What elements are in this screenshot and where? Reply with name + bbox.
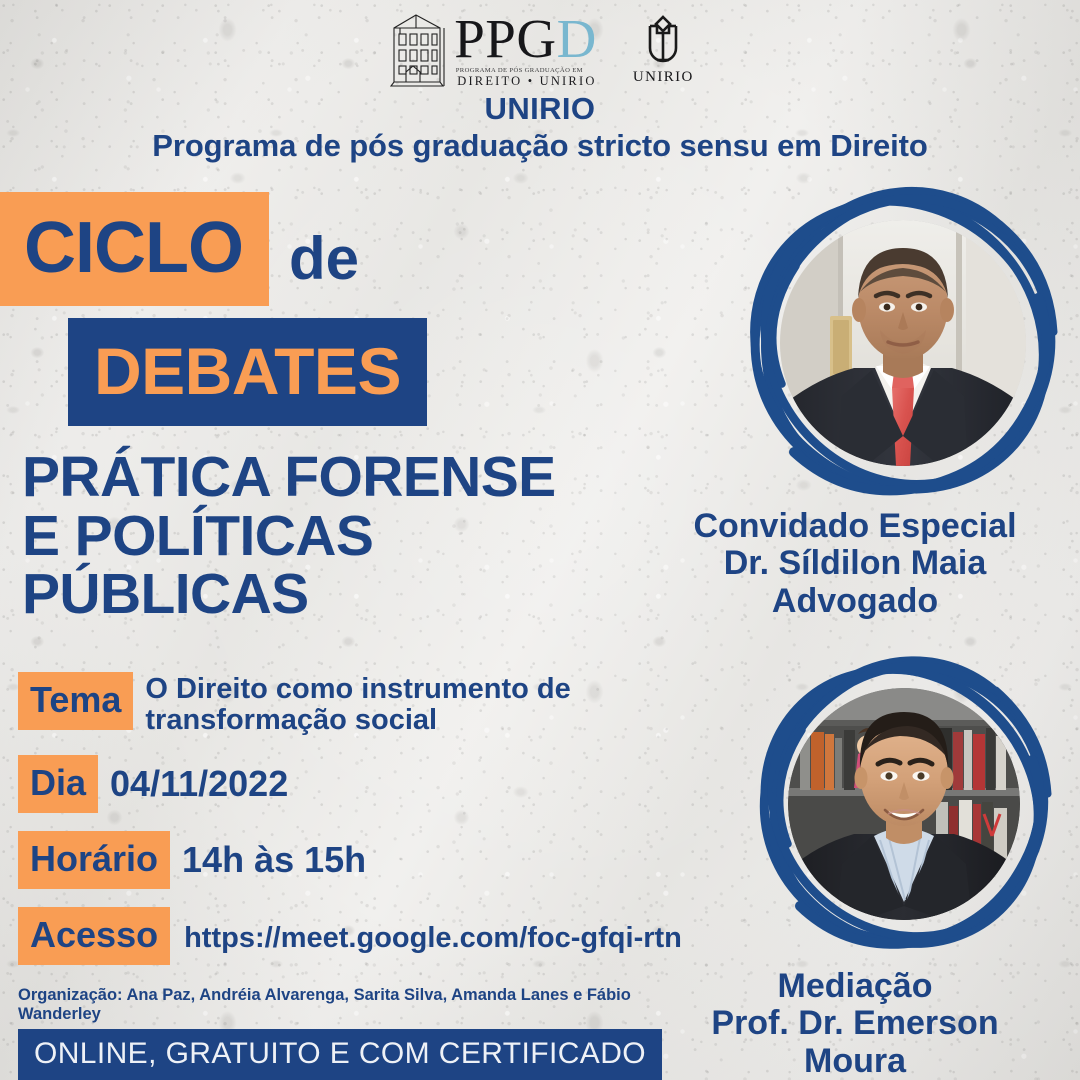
speaker-title-1: Advogado bbox=[640, 583, 1070, 620]
speaker-photo-block-2 bbox=[748, 648, 1060, 960]
detail-label-horario: Horário bbox=[18, 831, 170, 889]
event-details: Tema O Direito como instrumento de trans… bbox=[18, 672, 698, 975]
speaker-name-2: Prof. Dr. Emerson bbox=[640, 1005, 1070, 1042]
left-column: CICLO de DEBATES PRÁTICA FORENSE E POLÍT… bbox=[0, 0, 690, 1080]
detail-row-dia: Dia 04/11/2022 bbox=[18, 755, 698, 813]
speaker-role-1: Convidado Especial bbox=[640, 508, 1070, 545]
event-subtitle-line-3: PÚBLICAS bbox=[22, 565, 556, 624]
scribble-ring-icon-2 bbox=[748, 648, 1060, 960]
speaker-name-1: Dr. Síldilon Maia bbox=[640, 545, 1070, 582]
detail-row-tema: Tema O Direito como instrumento de trans… bbox=[18, 672, 698, 737]
event-subtitle-line-2: E POLÍTICAS bbox=[22, 507, 556, 566]
scribble-ring-icon-1 bbox=[738, 178, 1068, 508]
detail-value-dia: 04/11/2022 bbox=[98, 755, 288, 804]
speaker-caption-1: Convidado Especial Dr. Síldilon Maia Adv… bbox=[640, 508, 1070, 620]
title-ciclo-row: CICLO de bbox=[0, 192, 359, 306]
event-subtitle: PRÁTICA FORENSE E POLÍTICAS PÚBLICAS bbox=[22, 448, 556, 624]
detail-value-tema: O Direito como instrumento de transforma… bbox=[133, 672, 698, 737]
detail-row-acesso: Acesso https://meet.google.com/foc-gfqi-… bbox=[18, 907, 698, 965]
detail-label-dia: Dia bbox=[18, 755, 98, 813]
speaker-title-2: Moura bbox=[640, 1043, 1070, 1080]
title-debates: DEBATES bbox=[68, 318, 427, 426]
speaker-photo-block-1 bbox=[738, 178, 1068, 508]
detail-row-horario: Horário 14h às 15h bbox=[18, 831, 698, 889]
detail-label-tema: Tema bbox=[18, 672, 133, 730]
detail-value-horario: 14h às 15h bbox=[170, 831, 366, 880]
title-ciclo: CICLO bbox=[0, 192, 269, 306]
speaker-caption-2: Mediação Prof. Dr. Emerson Moura bbox=[640, 968, 1070, 1080]
poster-canvas: PPGD PROGRAMA DE PÓS GRADUAÇÃO EM DIREIT… bbox=[0, 0, 1080, 1080]
speaker-role-2: Mediação bbox=[640, 968, 1070, 1005]
detail-label-acesso: Acesso bbox=[18, 907, 170, 965]
organization-credits: Organização: Ana Paz, Andréia Alvarenga,… bbox=[18, 986, 658, 1025]
title-de: de bbox=[289, 209, 359, 289]
meeting-link[interactable]: https://meet.google.com/foc-gfqi-rtn bbox=[170, 907, 682, 954]
status-banner: ONLINE, GRATUITO E COM CERTIFICADO bbox=[18, 1029, 662, 1080]
event-subtitle-line-1: PRÁTICA FORENSE bbox=[22, 448, 556, 507]
